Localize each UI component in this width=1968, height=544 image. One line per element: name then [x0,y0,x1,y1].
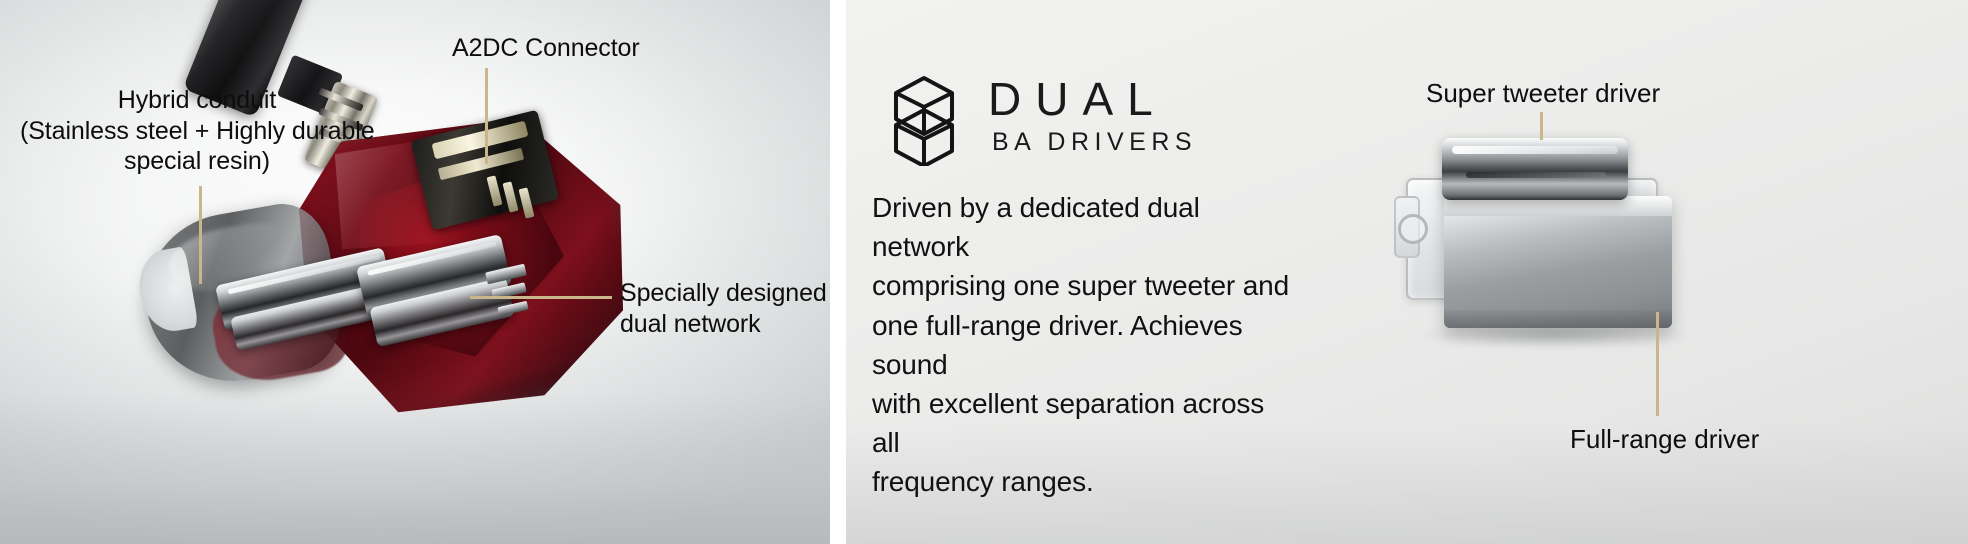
callout-line: special resin) [20,146,374,177]
callout-a2dc-connector: A2DC Connector [452,33,640,64]
callout-line: Specially designed [620,278,827,309]
callout-full-range-driver: Full-range driver [1570,424,1759,455]
description-line: Driven by a dedicated dual network [872,188,1292,266]
description-line: frequency ranges. [872,462,1292,501]
right-panel: DUAL BA DRIVERS Driven by a dedicated du… [846,0,1968,544]
logo-title: DUAL [988,76,1167,122]
left-panel: A2DC Connector Hybrid conduit (Stainless… [0,0,830,544]
panel-divider [830,0,846,544]
driver-body-edge [1444,310,1672,328]
dual-ba-drivers-logo: DUAL BA DRIVERS [888,74,1308,170]
logo-subtitle: BA DRIVERS [992,130,1197,155]
callout-hybrid-conduit: Hybrid conduit (Stainless steel + Highly… [20,85,374,177]
description-paragraph: Driven by a dedicated dual network compr… [872,188,1292,502]
callout-line: (Stainless steel + Highly durable [20,116,374,147]
leader-line-a2dc [485,68,488,164]
description-line: with excellent separation across all [872,384,1292,462]
leader-line-super-tweeter [1540,112,1543,140]
callout-line: Hybrid conduit [20,85,374,116]
callout-super-tweeter-driver: Super tweeter driver [1426,78,1660,109]
leader-line-dual-network [470,296,612,299]
chrome-highlight [1452,146,1618,154]
description-line: comprising one super tweeter and [872,266,1292,305]
housing-port-ring [1398,214,1428,244]
chrome-slot [1466,172,1606,178]
infographic-root: A2DC Connector Hybrid conduit (Stainless… [0,0,1968,544]
stacked-cubes-icon [888,74,960,166]
description-line: one full-range driver. Achieves sound [872,306,1292,384]
leader-line-full-range [1656,312,1659,416]
left-vignette [0,0,830,544]
leader-line-hybrid-conduit [199,186,202,284]
callout-line: dual network [620,309,827,340]
callout-dual-network: Specially designed dual network [620,278,827,339]
